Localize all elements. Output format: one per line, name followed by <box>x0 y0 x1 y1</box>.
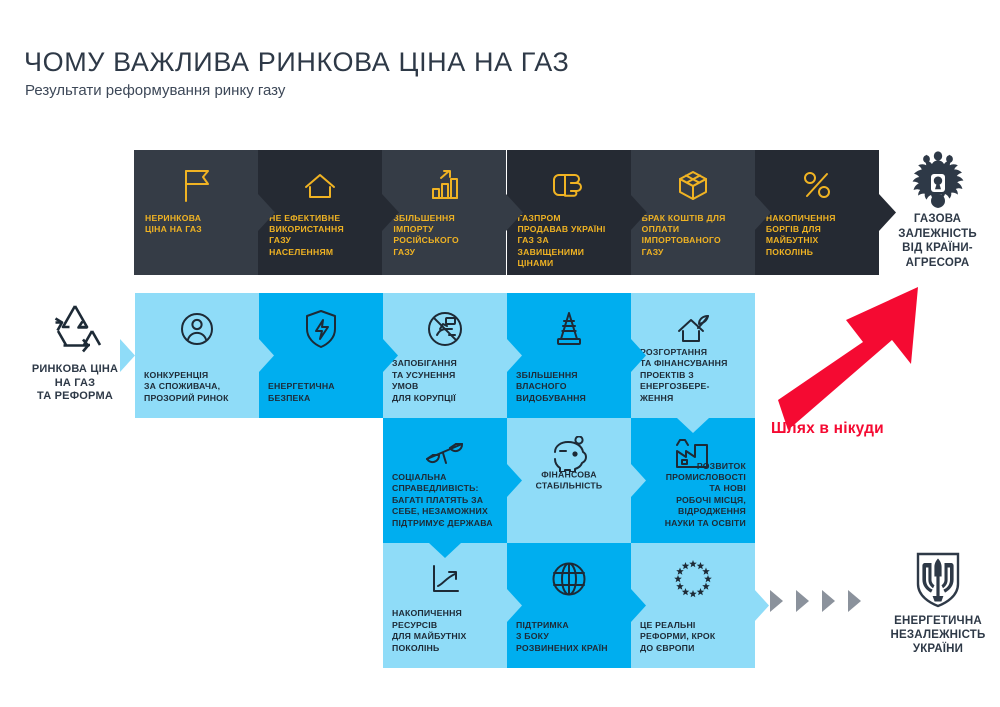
dead-end-arrow-icon <box>768 280 938 435</box>
chevron-right-icon <box>382 150 399 275</box>
benefit-cell-r3c3[interactable]: ЦЕ РЕАЛЬНІРЕФОРМИ, КРОКДО ЄВРОПИ <box>631 543 755 668</box>
user-circle-icon <box>135 307 259 351</box>
benefit-cell-r2c2[interactable]: ФІНАНСОВАСТАБІЛЬНІСТЬ <box>507 418 631 543</box>
bar-chart-up-icon <box>382 166 506 204</box>
chevron-down-icon <box>631 418 755 433</box>
reform-start-label: РИНКОВА ЦІНАНА ГАЗТА РЕФОРМА <box>16 363 134 404</box>
chevron-right-icon <box>631 418 646 543</box>
problem-step-1[interactable]: НЕРИНКОВАЦІНА НА ГАЗ <box>134 150 258 275</box>
benefit-cell-r2c1[interactable]: СОЦІАЛЬНАСПРАВЕДЛИВІСТЬ:БАГАТІ ПЛАТЯТЬ З… <box>383 418 507 543</box>
percent-icon <box>755 166 879 204</box>
benefit-cell-label: ФІНАНСОВАСТАБІЛЬНІСТЬ <box>516 469 622 492</box>
chevron-right-icon <box>259 293 274 418</box>
benefit-cell-label: ЗАПОБІГАННЯТА УСУНЕННЯУМОВДЛЯ КОРУПЦІЇ <box>392 358 498 404</box>
benefit-cell-r1c3[interactable]: ЗАПОБІГАННЯТА УСУНЕННЯУМОВДЛЯ КОРУПЦІЇ <box>383 293 507 418</box>
problem-step-4[interactable]: ГАЗПРОМПРОДАВАВ УКРАЇНІГАЗ ЗАЗАВИЩЕНИМИЦ… <box>507 150 631 275</box>
chevron-right-icon <box>258 150 275 275</box>
benefit-cell-r1c1[interactable]: КОНКУРЕНЦІЯЗА СПОЖИВАЧА,ПРОЗОРИЙ РИНОК <box>135 293 259 418</box>
problem-step-label: НЕРИНКОВАЦІНА НА ГАЗ <box>145 213 252 235</box>
benefit-cell-label: РОЗВИТОКПРОМИСЛОВОСТІТА НОВІРОБОЧІ МІСЦЯ… <box>640 461 746 529</box>
benefit-cell-r1c4[interactable]: ЗБІЛЬШЕННЯВЛАСНОГОВИДОБУВАННЯ <box>507 293 631 418</box>
problem-step-label: ЗБІЛЬШЕННЯІМПОРТУРОСІЙСЬКОГОГАЗУ <box>393 213 500 258</box>
problem-step-label: НАКОПИЧЕННЯБОРГІВ ДЛЯМАЙБУТНІХПОКОЛІНЬ <box>766 213 873 258</box>
problem-step-label: БРАК КОШТІВ ДЛЯОПЛАТИІМПОРТОВАНОГОГАЗУ <box>642 213 749 258</box>
problem-step-label: НЕ ЕФЕКТИВНЕВИКОРИСТАННЯГАЗУНАСЕЛЕННЯМ <box>269 213 376 258</box>
house-icon <box>258 166 382 204</box>
chevron-right-icon <box>754 543 769 668</box>
triangle-right-icon <box>768 589 784 613</box>
positive-outcome-label: ЕНЕРГЕТИЧНАНЕЗАЛЕЖНІСТЬУКРАЇНИ <box>878 614 998 656</box>
negative-outcome-label: ГАЗОВАЗАЛЕЖНІСТЬВІД КРАЇНИ-АГРЕСОРА <box>880 212 995 270</box>
shield-bolt-icon <box>259 307 383 351</box>
pointing-hand-icon <box>507 166 631 204</box>
benefit-cell-r1c5[interactable]: РОЗГОРТАННЯТА ФІНАНСУВАННЯПРОЕКТІВ ЗЕНЕР… <box>631 293 755 418</box>
benefit-cell-label: ЦЕ РЕАЛЬНІРЕФОРМИ, КРОКДО ЄВРОПИ <box>640 620 746 654</box>
benefit-cell-label: РОЗГОРТАННЯТА ФІНАНСУВАННЯПРОЕКТІВ ЗЕНЕР… <box>640 347 746 404</box>
progress-arrows <box>768 588 878 614</box>
chevron-right-icon <box>631 543 646 668</box>
chevron-right-icon <box>383 293 398 418</box>
ukraine-trident-emblem-icon <box>878 552 998 608</box>
drill-cone-icon <box>507 307 631 351</box>
recycle-arrows-icon <box>16 300 134 356</box>
flag-icon <box>134 166 258 204</box>
problem-step-3[interactable]: ЗБІЛЬШЕННЯІМПОРТУРОСІЙСЬКОГОГАЗУ <box>382 150 506 275</box>
chevron-right-icon <box>630 150 647 275</box>
russian-eagle-emblem-icon <box>880 150 995 208</box>
infographic-canvas: ЧОМУ ВАЖЛИВА РИНКОВА ЦІНА НА ГАЗ Результ… <box>0 0 1000 707</box>
open-box-icon <box>631 166 755 204</box>
page-title: ЧОМУ ВАЖЛИВА РИНКОВА ЦІНА НА ГАЗ <box>24 47 569 78</box>
growth-chart-icon <box>383 557 507 601</box>
eu-stars-icon <box>631 557 755 601</box>
chevron-right-icon <box>631 293 646 418</box>
benefit-cell-label: НАКОПИЧЕННЯРЕСУРСІВДЛЯ МАЙБУТНІХПОКОЛІНЬ <box>392 608 498 654</box>
benefit-cell-r3c2[interactable]: ПІДТРИМКАЗ БОКУРОЗВИНЕНИХ КРАЇН <box>507 543 631 668</box>
eco-house-icon <box>631 307 755 351</box>
chevron-right-icon <box>507 293 522 418</box>
negative-outcome-block: ГАЗОВАЗАЛЕЖНІСТЬВІД КРАЇНИ-АГРЕСОРА <box>880 150 995 275</box>
no-bribe-icon <box>383 307 507 351</box>
chevron-right-icon <box>507 543 522 668</box>
problem-step-label: ГАЗПРОМПРОДАВАВ УКРАЇНІГАЗ ЗАЗАВИЩЕНИМИЦ… <box>518 213 625 269</box>
globe-icon <box>507 557 631 601</box>
benefit-cell-r2c3[interactable]: РОЗВИТОКПРОМИСЛОВОСТІТА НОВІРОБОЧІ МІСЦЯ… <box>631 418 755 543</box>
chevron-right-icon <box>507 418 522 543</box>
scales-icon <box>383 432 507 476</box>
chevron-right-icon <box>120 293 135 418</box>
chevron-right-icon <box>506 150 523 275</box>
problem-chain: НЕРИНКОВАЦІНА НА ГАЗНЕ ЕФЕКТИВНЕВИКОРИСТ… <box>134 150 879 275</box>
benefit-cell-r3c1[interactable]: НАКОПИЧЕННЯРЕСУРСІВДЛЯ МАЙБУТНІХПОКОЛІНЬ <box>383 543 507 668</box>
page-subtitle: Результати реформування ринку газу <box>25 82 285 99</box>
positive-outcome-block: ЕНЕРГЕТИЧНАНЕЗАЛЕЖНІСТЬУКРАЇНИ <box>878 552 998 656</box>
dead-end-caption: Шлях в нікуди <box>771 420 884 438</box>
reform-start-block: РИНКОВА ЦІНАНА ГАЗТА РЕФОРМА <box>16 300 134 404</box>
benefit-cell-label: СОЦІАЛЬНАСПРАВЕДЛИВІСТЬ:БАГАТІ ПЛАТЯТЬ З… <box>392 472 498 529</box>
chevron-right-icon <box>754 150 771 275</box>
triangle-right-icon <box>846 589 862 613</box>
benefit-cell-label: ПІДТРИМКАЗ БОКУРОЗВИНЕНИХ КРАЇН <box>516 620 622 654</box>
benefit-cell-r1c2[interactable]: ЕНЕРГЕТИЧНАБЕЗПЕКА <box>259 293 383 418</box>
benefit-grid: КОНКУРЕНЦІЯЗА СПОЖИВАЧА,ПРОЗОРИЙ РИНОКЕН… <box>135 293 755 667</box>
benefit-cell-label: КОНКУРЕНЦІЯЗА СПОЖИВАЧА,ПРОЗОРИЙ РИНОК <box>144 370 250 404</box>
triangle-right-icon <box>820 589 836 613</box>
benefit-cell-label: ЕНЕРГЕТИЧНАБЕЗПЕКА <box>268 381 374 404</box>
problem-step-6[interactable]: НАКОПИЧЕННЯБОРГІВ ДЛЯМАЙБУТНІХПОКОЛІНЬ <box>755 150 879 275</box>
triangle-right-icon <box>794 589 810 613</box>
benefit-cell-label: ЗБІЛЬШЕННЯВЛАСНОГОВИДОБУВАННЯ <box>516 370 622 404</box>
problem-step-5[interactable]: БРАК КОШТІВ ДЛЯОПЛАТИІМПОРТОВАНОГОГАЗУ <box>631 150 755 275</box>
problem-step-2[interactable]: НЕ ЕФЕКТИВНЕВИКОРИСТАННЯГАЗУНАСЕЛЕННЯМ <box>258 150 382 275</box>
chevron-down-icon <box>383 543 507 558</box>
